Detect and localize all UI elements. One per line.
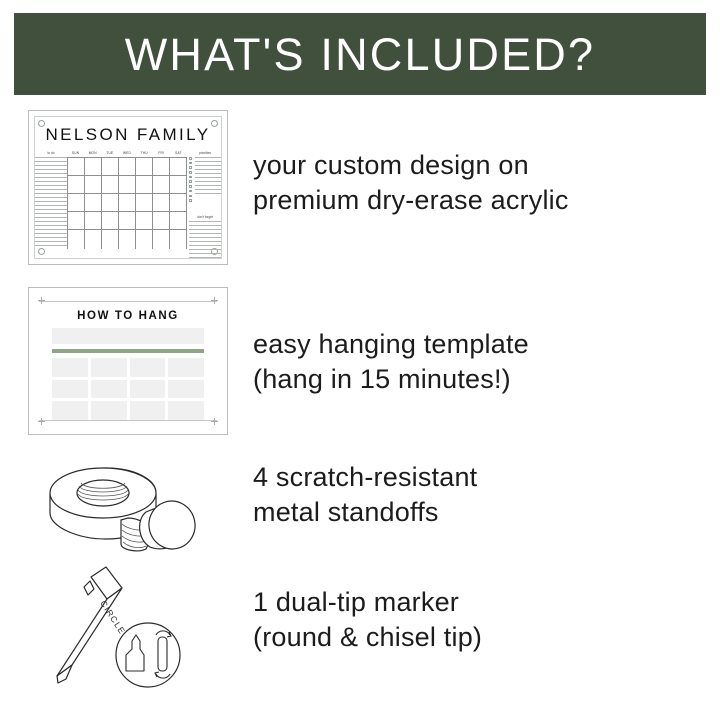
calendar-todo-label: to do bbox=[35, 151, 67, 156]
weekday-label: FRI bbox=[153, 151, 170, 156]
template-cell bbox=[130, 401, 166, 420]
template-cell bbox=[52, 380, 88, 399]
calendar-weekday-header: SUN MON TUE WED THU FRI SAT bbox=[67, 151, 187, 156]
page-title: WHAT'S INCLUDED? bbox=[125, 32, 596, 77]
ruled-lines bbox=[189, 221, 221, 258]
header-banner: WHAT'S INCLUDED? bbox=[14, 13, 706, 95]
ruled-lines bbox=[195, 157, 221, 194]
template-cell bbox=[130, 380, 166, 399]
template-cell bbox=[91, 380, 127, 399]
feature-row-metal-standoffs: 4 scratch-resistant metal standoffs bbox=[28, 452, 228, 557]
calendar-family-name: NELSON FAMILY bbox=[29, 125, 227, 145]
feature-row-acrylic-calendar: NELSON FAMILY to do SUN MON TUE WED THU … bbox=[28, 110, 228, 265]
crosshair-icon bbox=[211, 418, 218, 425]
metal-standoffs-illustration bbox=[28, 452, 228, 557]
crosshair-icon bbox=[38, 297, 45, 304]
weekday-label: SAT bbox=[170, 151, 187, 156]
feature-row-hanging-template: HOW TO HANG easy hanging template (hang … bbox=[28, 287, 228, 435]
feature-text-acrylic-calendar: your custom design on premium dry-erase … bbox=[253, 148, 720, 217]
template-header-strip bbox=[52, 328, 204, 344]
marker-icon: CIRCLE & SQUARE bbox=[28, 563, 228, 693]
crosshair-icon bbox=[38, 418, 45, 425]
acrylic-calendar-illustration: NELSON FAMILY to do SUN MON TUE WED THU … bbox=[28, 110, 228, 265]
crosshair-icon bbox=[211, 297, 218, 304]
feature-text-dual-tip-marker: 1 dual-tip marker (round & chisel tip) bbox=[253, 585, 720, 654]
feature-text-hanging-template: easy hanging template (hang in 15 minute… bbox=[253, 327, 720, 396]
template-cell bbox=[91, 401, 127, 420]
calendar-month-grid bbox=[67, 157, 187, 249]
weekday-label: WED bbox=[118, 151, 135, 156]
calendar-priorities-column: priorities bbox=[189, 151, 221, 197]
hanging-template-title: HOW TO HANG bbox=[29, 310, 227, 322]
calendar-priorities-label: priorities bbox=[189, 151, 221, 156]
calendar-dont-forget-label: don't forget bbox=[189, 215, 221, 220]
standoff-icon bbox=[28, 452, 228, 557]
template-accent-bar bbox=[52, 349, 204, 353]
template-cell bbox=[168, 380, 204, 399]
weekday-label: TUE bbox=[101, 151, 118, 156]
weekday-label: SUN bbox=[67, 151, 84, 156]
calendar-dont-forget-column: don't forget bbox=[189, 215, 221, 261]
hanging-template-illustration: HOW TO HANG bbox=[28, 287, 228, 435]
dual-tip-marker-illustration: CIRCLE & SQUARE bbox=[28, 563, 228, 693]
standoff-hole-icon bbox=[38, 248, 45, 255]
template-cell bbox=[168, 358, 204, 377]
feature-row-dual-tip-marker: CIRCLE & SQUARE 1 dual-tip marker (round… bbox=[28, 563, 228, 693]
template-grid bbox=[52, 358, 204, 420]
calendar-todo-column: to do bbox=[35, 151, 67, 249]
template-cell bbox=[91, 358, 127, 377]
template-cell bbox=[168, 401, 204, 420]
weekday-label: THU bbox=[136, 151, 153, 156]
template-cell bbox=[52, 401, 88, 420]
checkbox-icon-list bbox=[189, 157, 192, 204]
weekday-label: MON bbox=[84, 151, 101, 156]
ruled-lines bbox=[35, 157, 67, 246]
template-cell bbox=[130, 358, 166, 377]
feature-text-metal-standoffs: 4 scratch-resistant metal standoffs bbox=[253, 460, 720, 529]
template-cell bbox=[52, 358, 88, 377]
calendar-board: NELSON FAMILY to do SUN MON TUE WED THU … bbox=[28, 110, 228, 265]
hanging-template-sheet: HOW TO HANG bbox=[28, 287, 228, 435]
